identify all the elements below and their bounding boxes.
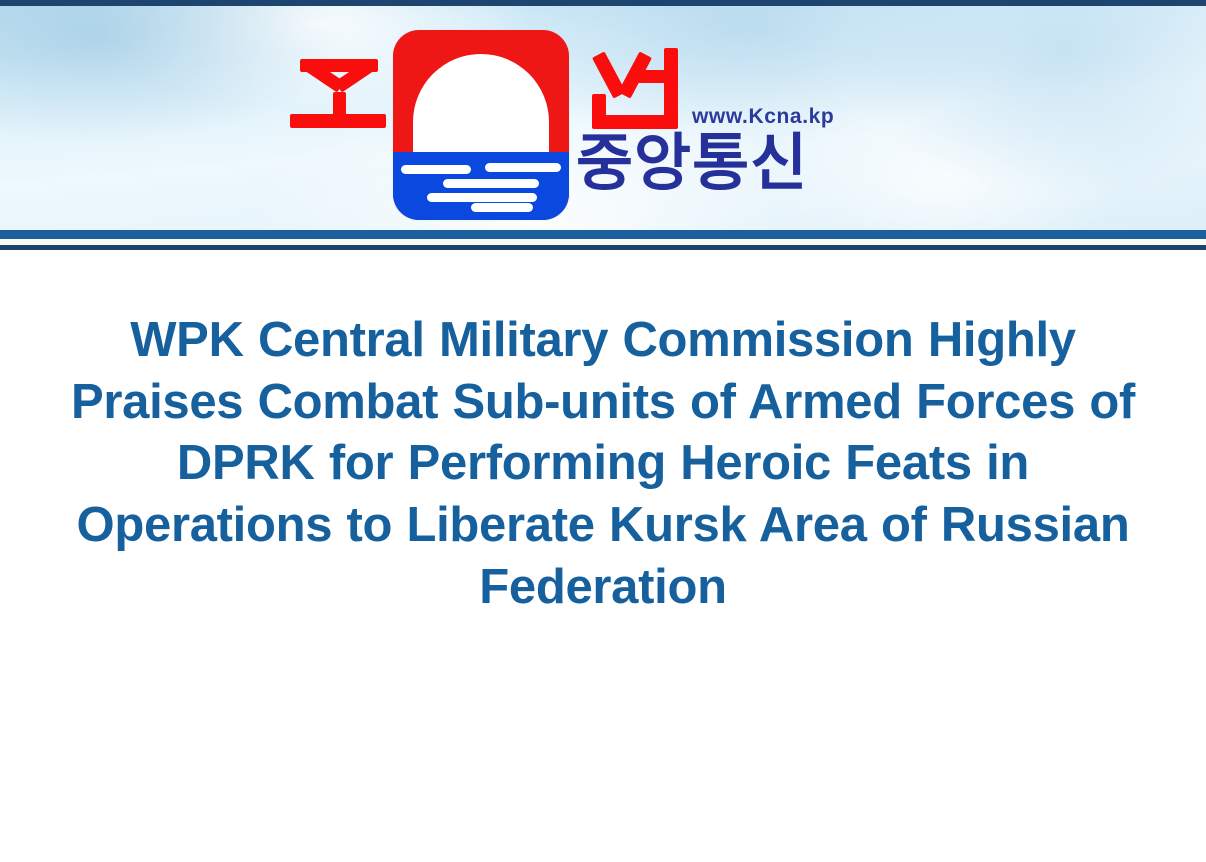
kcna-sun-and-sea-emblem-icon bbox=[393, 30, 569, 220]
article-body: WPK Central Military Commission Highly P… bbox=[0, 250, 1206, 862]
divider-rule-blue bbox=[0, 230, 1206, 239]
logo-korean-subtitle: 중앙통신 bbox=[576, 132, 808, 194]
site-masthead: www.Kcna.kp 중앙통신 bbox=[0, 6, 1206, 230]
page-root: www.Kcna.kp 중앙통신 WPK Central Military Co… bbox=[0, 0, 1206, 862]
korean-syllable-jo-icon bbox=[288, 56, 388, 140]
article-headline: WPK Central Military Commission Highly P… bbox=[53, 250, 1153, 619]
kcna-logo[interactable]: www.Kcna.kp 중앙통신 bbox=[288, 20, 948, 225]
